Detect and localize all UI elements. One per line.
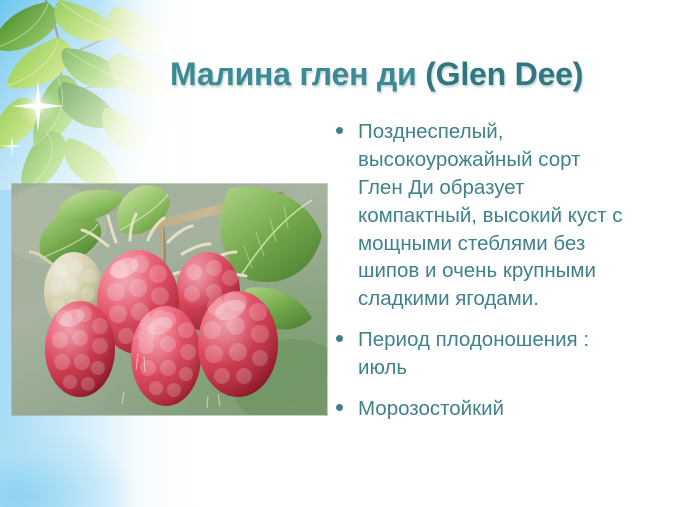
bullet-dot-icon <box>336 118 358 134</box>
list-item: Период плодоношения : июль <box>336 326 686 382</box>
list-item: Морозостойкий <box>336 395 686 423</box>
green-leaves-decoration <box>0 0 178 190</box>
list-item: Позднеспелый, высокоурожайный сорт Глен … <box>336 118 686 313</box>
slide-title: Малина глен ди (Glen Dee) <box>170 57 690 93</box>
bullet-dot-icon <box>336 395 358 411</box>
list-item-text: Позднеспелый, высокоурожайный сорт Глен … <box>358 118 630 313</box>
list-item-text: Период плодоношения : июль <box>358 326 630 382</box>
list-item-text: Морозостойкий <box>358 395 630 423</box>
bullet-list: Позднеспелый, высокоурожайный сорт Глен … <box>336 118 686 423</box>
slide-title-latin: (Glen Dee) <box>425 56 583 92</box>
bullet-dot-icon <box>336 326 358 342</box>
raspberry-cluster-photo <box>12 184 327 415</box>
leaves-fade-overlay <box>0 0 178 190</box>
presentation-slide: Малина глен ди (Glen Dee) <box>0 0 700 507</box>
slide-title-cyrillic: Малина глен ди <box>170 56 425 92</box>
